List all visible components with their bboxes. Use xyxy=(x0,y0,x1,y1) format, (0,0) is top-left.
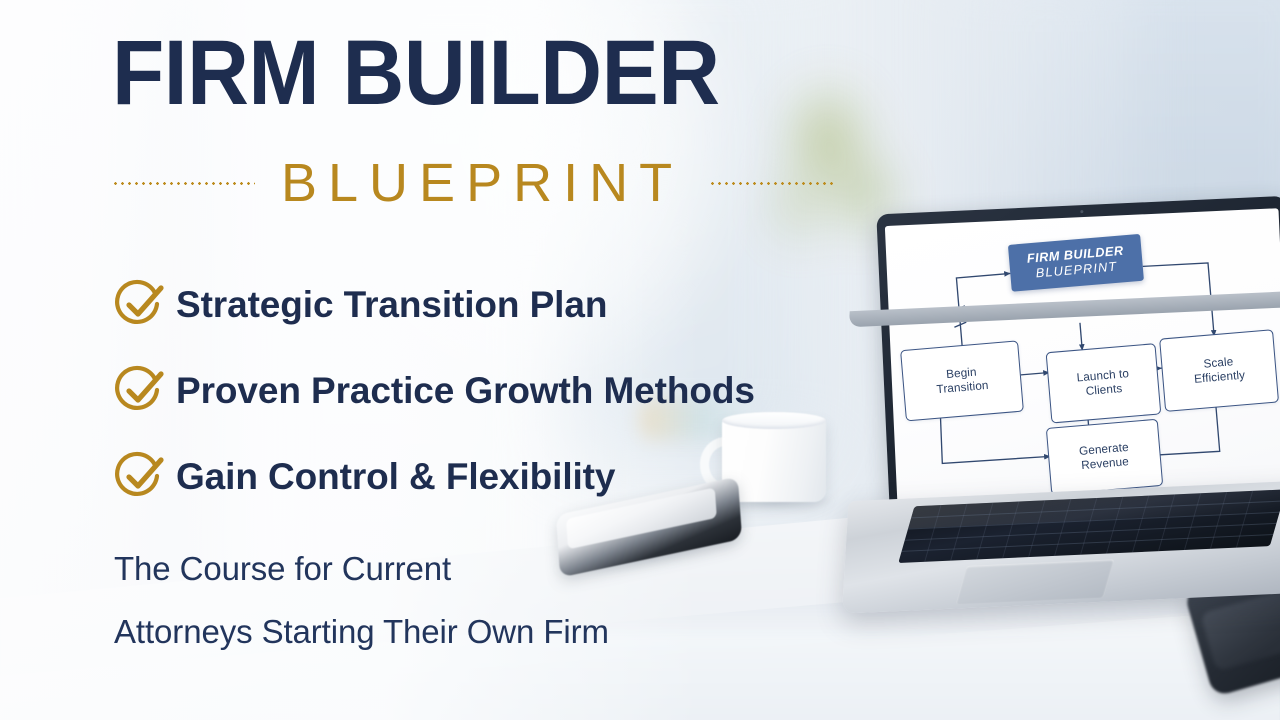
flowchart-node-scale-efficiently: ScaleEfficiently xyxy=(1159,329,1279,412)
laptop-trackpad xyxy=(956,559,1115,604)
list-item-label: Strategic Transition Plan xyxy=(176,284,607,326)
check-circle-icon xyxy=(112,451,168,503)
list-item: Gain Control & Flexibility xyxy=(112,434,912,520)
webcam-icon xyxy=(1080,210,1083,213)
laptop-screen: FIRM BUILDER BLUEPRINT BeginTransition L… xyxy=(885,208,1280,508)
list-item: Proven Practice Growth Methods xyxy=(112,348,912,434)
tagline-line-1: The Course for Current xyxy=(114,538,609,601)
subtitle-row: BLUEPRINT xyxy=(112,152,892,214)
tagline-line-2: Attorneys Starting Their Own Firm xyxy=(114,601,609,664)
page-subtitle: BLUEPRINT xyxy=(255,156,709,210)
flowchart-node-label: ScaleEfficiently xyxy=(1192,354,1245,387)
tagline: The Course for Current Attorneys Startin… xyxy=(114,538,609,663)
check-circle-icon xyxy=(112,279,168,331)
list-item-label: Proven Practice Growth Methods xyxy=(176,370,755,412)
flowchart-node-launch-to-clients: Launch toClients xyxy=(1046,343,1162,423)
feature-list: Strategic Transition Plan Proven Practic… xyxy=(112,262,912,520)
list-item: Strategic Transition Plan xyxy=(112,262,912,348)
list-item-label: Gain Control & Flexibility xyxy=(176,456,615,498)
flowchart-node-generate-revenue: GenerateRevenue xyxy=(1046,419,1163,495)
laptop-lid: FIRM BUILDER BLUEPRINT BeginTransition L… xyxy=(876,196,1280,519)
dotted-rule-right xyxy=(709,182,835,185)
check-circle-icon xyxy=(112,365,168,417)
flowchart-node-label: GenerateRevenue xyxy=(1079,441,1131,474)
page-title: FIRM BUILDER xyxy=(112,27,720,119)
flowchart-node-label: Launch toClients xyxy=(1076,367,1131,400)
dotted-rule-left xyxy=(112,182,255,185)
flowchart: FIRM BUILDER BLUEPRINT BeginTransition L… xyxy=(885,208,1280,508)
flowchart-node-label: BeginTransition xyxy=(935,364,989,397)
laptop-keyboard xyxy=(898,489,1280,563)
flowchart-node-begin-transition: BeginTransition xyxy=(900,340,1024,421)
promo-slide: FIRM BUILDER BLUEPRINT BeginTransition L… xyxy=(0,0,1280,720)
